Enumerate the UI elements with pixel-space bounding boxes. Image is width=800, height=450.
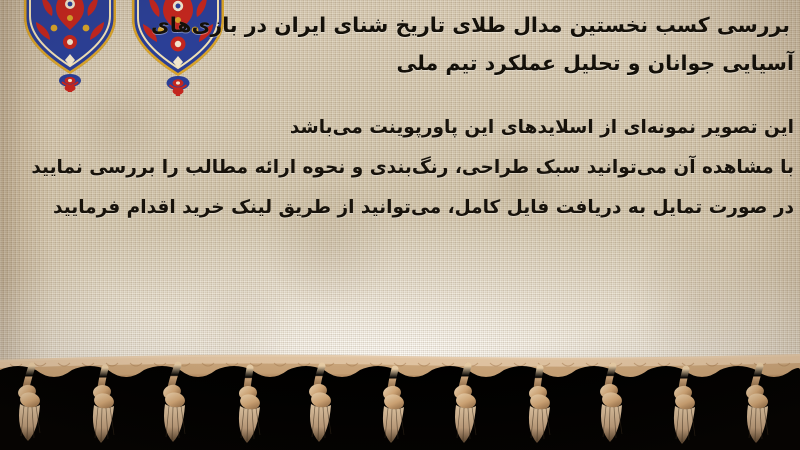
slide-canvas: بررسی کسب نخستین مدال طلای تاریخ شنای ای… bbox=[0, 0, 800, 450]
text-layer: بررسی کسب نخستین مدال طلای تاریخ شنای ای… bbox=[0, 0, 800, 372]
body-line-3: در صورت تمایل به دریافت فایل کامل، می‌تو… bbox=[2, 188, 794, 228]
body-line-2: با مشاهده آن می‌توانید سبک طراحی، رنگ‌بن… bbox=[2, 148, 794, 188]
slide-body: این تصویر نمونه‌ای از اسلایدهای این پاور… bbox=[2, 108, 794, 228]
title-line-1: بررسی کسب نخستین مدال طلای تاریخ شنای ای… bbox=[2, 6, 794, 44]
body-line-1: این تصویر نمونه‌ای از اسلایدهای این پاور… bbox=[2, 108, 794, 148]
title-line-2: آسیایی جوانان و تحلیل عملکرد تیم ملی bbox=[2, 44, 794, 82]
slide-title: بررسی کسب نخستین مدال طلای تاریخ شنای ای… bbox=[2, 6, 794, 82]
knotted-tassel-fringe bbox=[0, 344, 800, 450]
